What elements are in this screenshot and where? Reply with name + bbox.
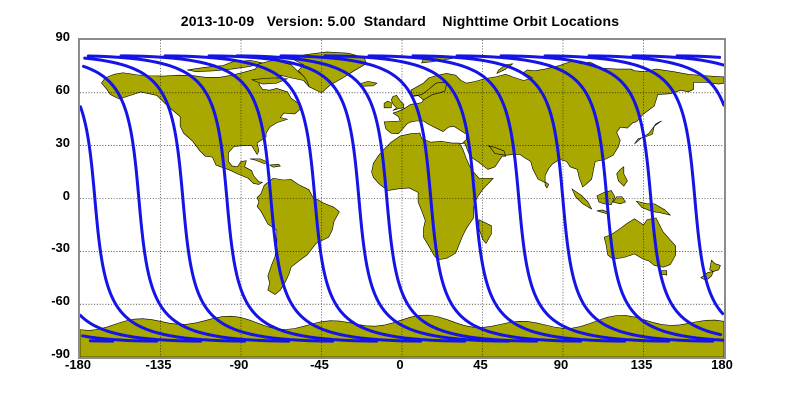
x-tick-label: -45 [310,357,329,372]
x-tick-label: 0 [396,357,403,372]
landmass [479,220,492,244]
y-tick-label: 60 [0,82,70,97]
world-map-svg [80,40,724,357]
landmass [635,121,662,144]
plot-area [80,40,724,357]
landmass [661,271,666,275]
x-tick-label: 135 [631,357,653,372]
landmass [250,159,268,164]
orbit-map-figure: 2013-10-09 Version: 5.00 Standard Nightt… [0,0,800,400]
landmass [545,182,549,188]
x-tick-label: 180 [711,357,733,372]
x-tick-label: -135 [145,357,171,372]
y-tick-label: 30 [0,135,70,150]
landmass [710,260,721,271]
x-tick-label: 45 [473,357,487,372]
landmass [384,101,391,108]
y-tick-label: -30 [0,240,70,255]
y-tick-label: 0 [0,188,70,203]
y-tick-label: -60 [0,293,70,308]
plot-frame [78,38,726,359]
landmass [617,167,628,186]
x-tick-label: -90 [230,357,249,372]
landmass [270,164,281,167]
orbit-track [677,56,720,57]
x-tick-label: -180 [65,357,91,372]
land-layer [80,52,724,357]
y-tick-label: -90 [0,346,70,361]
landmass [572,189,592,209]
y-tick-label: 90 [0,29,70,44]
landmass [613,197,626,204]
page-title: 2013-10-09 Version: 5.00 Standard Nightt… [0,13,800,29]
x-tick-label: 90 [554,357,568,372]
